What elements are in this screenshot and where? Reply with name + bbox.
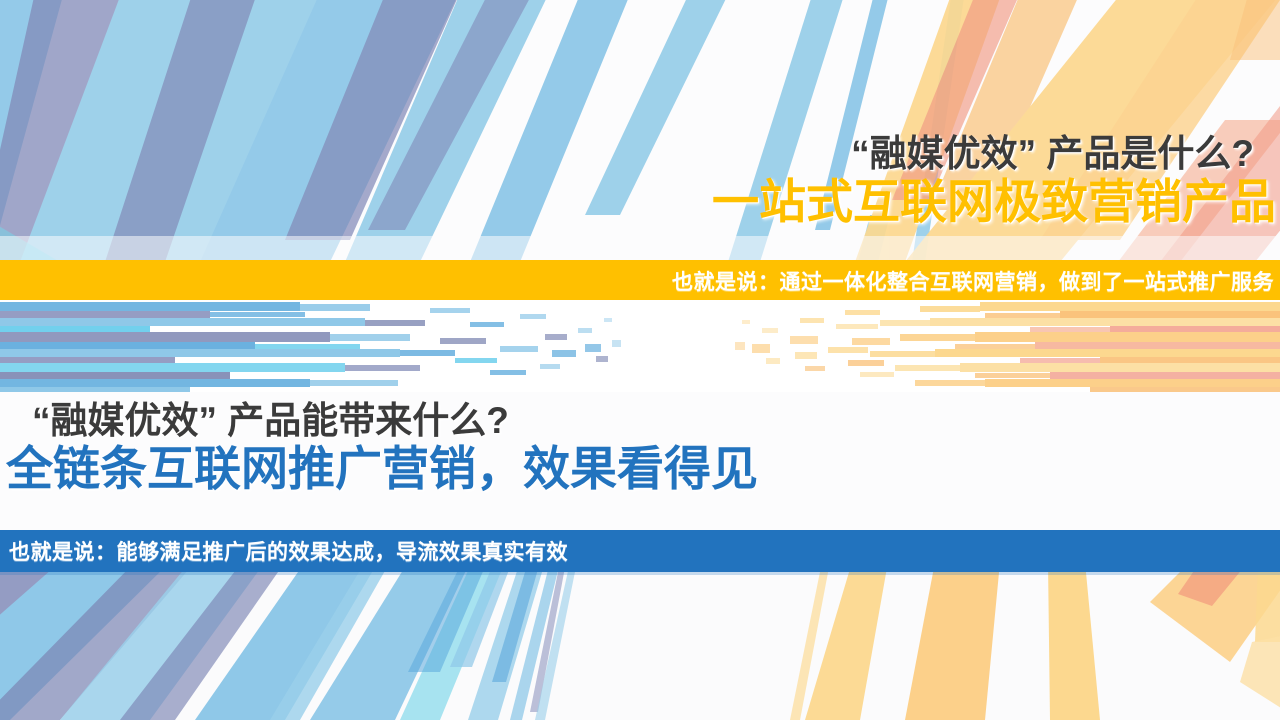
orange-banner: 也就是说：通过一体化整合互联网营销，做到了一站式推广服务	[0, 260, 1280, 301]
slide-root: “融媒优效” 产品是什么? 一站式互联网极致营销产品 也就是说：通过一体化整合互…	[0, 0, 1280, 720]
bottom-text-block: “融媒优效” 产品能带来什么? 全链条互联网推广营销，效果看得见	[6, 400, 758, 495]
bottom-headline: 全链条互联网推广营销，效果看得见	[6, 443, 758, 495]
blue-banner-text: 也就是说：能够满足推广后的效果达成，导流效果真实有效	[0, 536, 568, 566]
orange-banner-text: 也就是说：通过一体化整合互联网营销，做到了一站式推广服务	[672, 266, 1280, 296]
top-text-block: “融媒优效” 产品是什么? 一站式互联网极致营销产品	[712, 133, 1276, 228]
bottom-kicker: “融媒优效” 产品能带来什么?	[6, 400, 758, 441]
diagonal-streaks-bottom-graphic	[0, 572, 1280, 720]
speed-burst-converging-graphic	[0, 300, 1280, 392]
top-headline: 一站式互联网极致营销产品	[712, 176, 1276, 228]
top-kicker: “融媒优效” 产品是什么?	[712, 133, 1276, 174]
blue-banner: 也就是说：能够满足推广后的效果达成，导流效果真实有效	[0, 530, 1280, 572]
